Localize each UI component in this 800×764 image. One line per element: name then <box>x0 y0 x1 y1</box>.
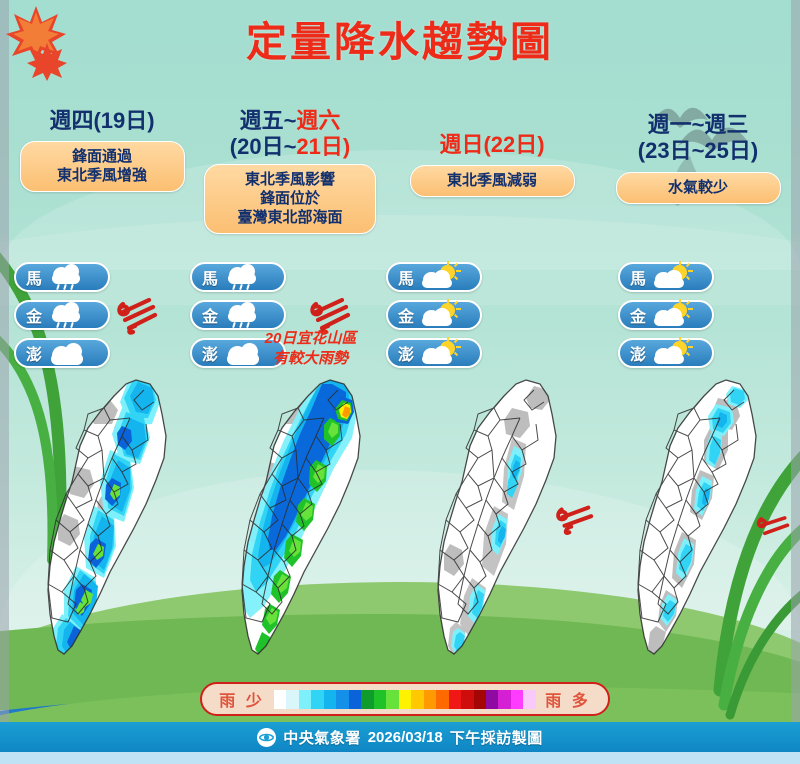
infographic-root: 定量降水趨勢圖 週四(19日) 鋒面通過 東北季風增強 週五~週六 (20日~2… <box>0 0 800 764</box>
cwa-logo-icon <box>257 728 276 747</box>
page-title: 定量降水趨勢圖 <box>0 8 800 68</box>
column-summary-pill-fri-sat: 東北季風影響 鋒面位於 臺灣東北部海面 <box>204 164 376 235</box>
legend-swatch-17 <box>486 690 498 709</box>
island-badges-sun: 馬 金 <box>386 262 482 376</box>
column-header-line1: 週一~週三 <box>598 112 798 138</box>
island-badge-kinmen[interactable]: 金 <box>190 300 286 330</box>
wind-icon <box>113 296 159 338</box>
footer-agency: 中央氣象署 <box>283 727 361 748</box>
island-badge-kinmen[interactable]: 金 <box>14 300 110 330</box>
island-label: 澎 <box>627 341 649 365</box>
island-label: 馬 <box>627 265 649 289</box>
sun-cloud-icon <box>420 264 464 290</box>
legend-swatch-5 <box>336 690 348 709</box>
island-label: 金 <box>627 303 649 327</box>
footer-note: 下午採訪製圖 <box>450 727 543 748</box>
rainfall-map-thu <box>18 374 208 674</box>
legend-swatch-19 <box>511 690 523 709</box>
footer-bar: 中央氣象署 2026/03/18 下午採訪製圖 <box>0 722 800 752</box>
footer-date: 2026/03/18 <box>368 729 443 746</box>
island-label: 馬 <box>395 265 417 289</box>
forecast-column-sun: 週日(22日) 東北季風減弱 <box>392 132 592 197</box>
rainfall-map-sun <box>408 374 598 674</box>
pill-line: 水氣較少 <box>621 178 776 197</box>
rain-icon <box>224 302 268 328</box>
island-badges-mon-wed: 馬 金 <box>618 262 714 376</box>
island-label: 馬 <box>199 265 221 289</box>
rain-icon <box>224 264 268 290</box>
legend-swatch-1 <box>286 690 298 709</box>
island-badge-penghu[interactable]: 澎 <box>386 338 482 368</box>
legend-swatch-2 <box>299 690 311 709</box>
pill-line: 東北季風增強 <box>25 166 180 185</box>
annotation-line: 有較大雨勢 <box>248 349 373 369</box>
pill-line: 臺灣東北部海面 <box>209 208 371 227</box>
island-label: 馬 <box>23 265 45 289</box>
forecast-column-fri-sat: 週五~週六 (20日~21日) 東北季風影響 鋒面位於 臺灣東北部海面 <box>190 108 390 234</box>
footer-base <box>0 752 800 764</box>
legend-swatch-3 <box>311 690 323 709</box>
legend-swatch-7 <box>361 690 373 709</box>
island-badge-penghu[interactable]: 澎 <box>618 338 714 368</box>
sun-cloud-icon <box>652 264 696 290</box>
legend-swatch-20 <box>523 690 535 709</box>
legend-swatch-8 <box>374 690 386 709</box>
forecast-column-mon-wed: 週一~週三 (23日~25日) 水氣較少 <box>598 112 798 204</box>
column-header-line2: (23日~25日) <box>598 138 798 164</box>
column-header-line2: (20日~21日) <box>190 134 390 160</box>
legend-swatch-15 <box>461 690 473 709</box>
rain-icon <box>48 302 92 328</box>
pill-line: 鋒面位於 <box>209 189 371 208</box>
pill-line: 鋒面通過 <box>25 147 180 166</box>
island-badge-kinmen[interactable]: 金 <box>386 300 482 330</box>
sun-cloud-icon <box>420 302 464 328</box>
island-label: 澎 <box>199 341 221 365</box>
sun-cloud-icon <box>652 302 696 328</box>
header-highlight: 週六 <box>296 108 340 133</box>
sun-cloud-icon <box>652 340 696 366</box>
island-badge-matsu[interactable]: 馬 <box>190 262 286 292</box>
island-label: 金 <box>395 303 417 327</box>
rainfall-legend: 雨 少 雨 多 <box>200 682 610 716</box>
island-badge-kinmen[interactable]: 金 <box>618 300 714 330</box>
annotation-line: 20日宜花山區 <box>248 329 373 349</box>
column-header-sun: 週日(22日) <box>392 132 592 158</box>
column-header-line1: 週日(22日) <box>392 132 592 158</box>
header-highlight: 21日) <box>296 134 350 159</box>
header-plain: 週五~ <box>240 108 297 133</box>
column-header-fri-sat: 週五~週六 (20日~21日) <box>190 108 390 160</box>
column-header-line1: 週四(19日) <box>2 108 202 134</box>
column-summary-pill-sun: 東北季風減弱 <box>410 165 575 197</box>
legend-colorbar <box>274 690 536 709</box>
island-label: 金 <box>23 303 45 327</box>
island-badges-thu: 馬 金 澎 <box>14 262 110 376</box>
legend-swatch-11 <box>411 690 423 709</box>
header-plain: (20日~ <box>230 134 297 159</box>
legend-swatch-10 <box>399 690 411 709</box>
legend-high-label: 雨 多 <box>540 687 596 711</box>
island-label: 金 <box>199 303 221 327</box>
column-header-thu: 週四(19日) <box>2 108 202 134</box>
island-badge-penghu[interactable]: 澎 <box>14 338 110 368</box>
legend-swatch-6 <box>349 690 361 709</box>
legend-swatch-4 <box>324 690 336 709</box>
rain-icon <box>48 264 92 290</box>
island-badge-matsu[interactable]: 馬 <box>14 262 110 292</box>
pill-line: 東北季風減弱 <box>415 171 570 190</box>
forecast-column-thu: 週四(19日) 鋒面通過 東北季風增強 <box>2 108 202 192</box>
column-header-line1: 週五~週六 <box>190 108 390 134</box>
legend-swatch-0 <box>274 690 286 709</box>
legend-swatch-16 <box>474 690 486 709</box>
legend-swatch-12 <box>424 690 436 709</box>
island-badge-matsu[interactable]: 馬 <box>618 262 714 292</box>
column-header-mon-wed: 週一~週三 (23日~25日) <box>598 112 798 164</box>
rainfall-map-mon-wed <box>608 374 798 674</box>
legend-low-label: 雨 少 <box>214 687 270 711</box>
pill-line: 東北季風影響 <box>209 170 371 189</box>
island-badge-matsu[interactable]: 馬 <box>386 262 482 292</box>
cloudy-icon <box>48 340 92 366</box>
heavy-rain-annotation: 20日宜花山區 有較大雨勢 <box>248 329 373 368</box>
island-label: 澎 <box>395 341 417 365</box>
legend-swatch-13 <box>436 690 448 709</box>
legend-swatch-9 <box>386 690 398 709</box>
column-summary-pill-thu: 鋒面通過 東北季風增強 <box>20 141 185 192</box>
sun-cloud-icon <box>420 340 464 366</box>
legend-swatch-14 <box>449 690 461 709</box>
island-label: 澎 <box>23 341 45 365</box>
legend-swatch-18 <box>498 690 510 709</box>
column-summary-pill-mon-wed: 水氣較少 <box>616 172 781 204</box>
rainfall-map-fri-sat <box>212 374 402 674</box>
